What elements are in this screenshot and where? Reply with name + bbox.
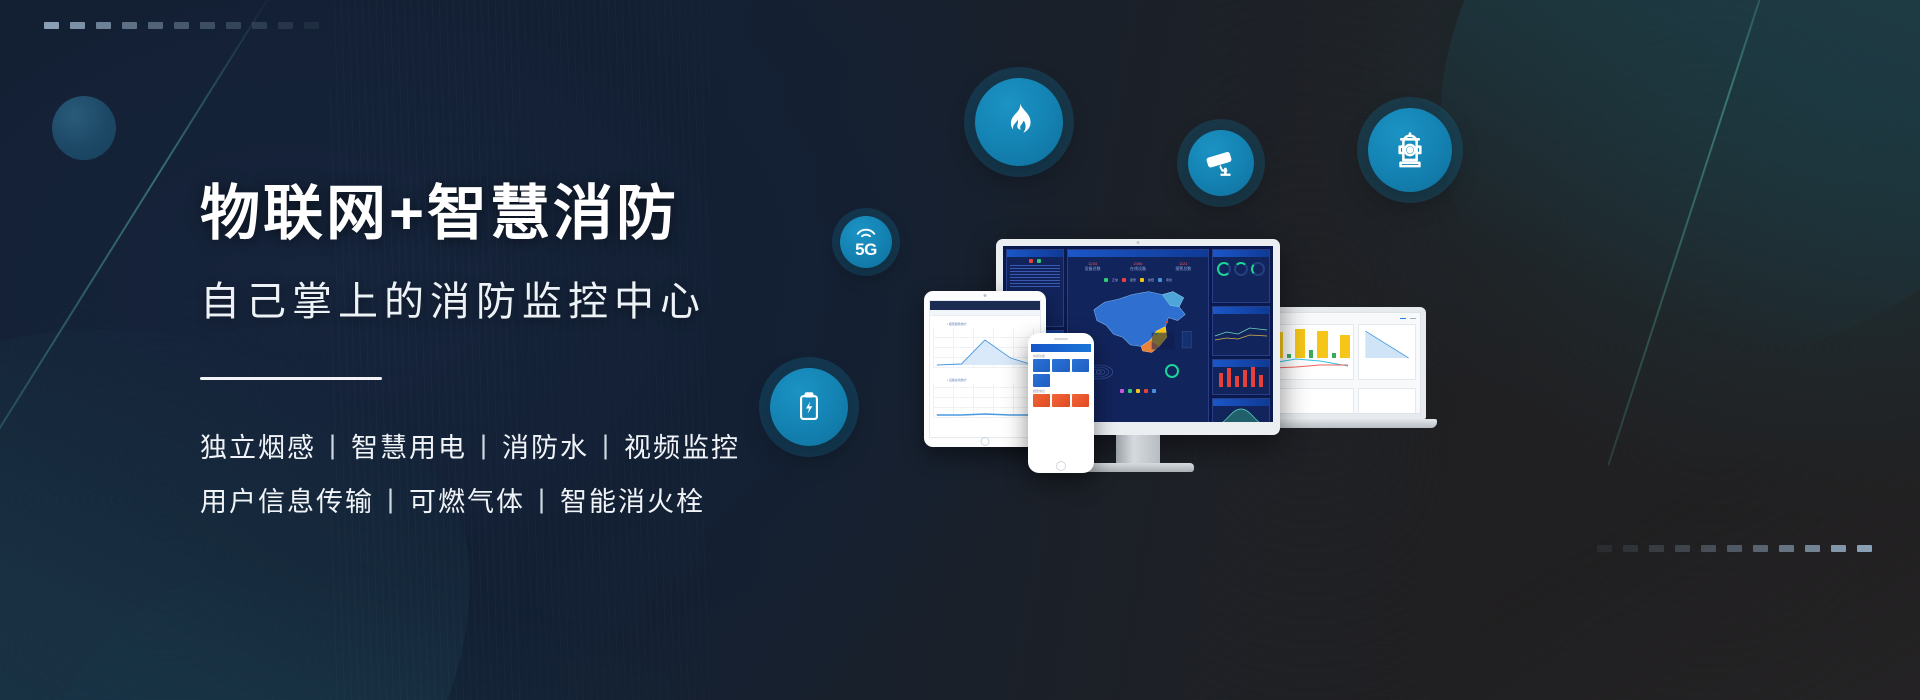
- tab-inactive[interactable]: ▬▬: [1410, 316, 1416, 320]
- tablet-header-bar: [930, 301, 1040, 310]
- feature-line-2: 用户信息传输 | 可燃气体 | 智能消火栓: [200, 480, 920, 519]
- area-chart: [1362, 328, 1412, 362]
- kpi-item: 1121报警总数: [1175, 261, 1191, 272]
- panel-title-bar: [1213, 399, 1269, 406]
- dash-mark: [1649, 545, 1664, 552]
- phone-header-bar: [1031, 344, 1091, 352]
- decor-blob-bottom-right: [1460, 440, 1920, 700]
- feature-separator: |: [538, 484, 547, 515]
- phone-speaker: [1054, 338, 1068, 340]
- tablet-chart-2: [933, 384, 1037, 418]
- phone-alert-tile[interactable]: [1033, 394, 1050, 407]
- phone-screen: 常用功能 报警信息: [1031, 344, 1091, 460]
- dash-mark: [44, 22, 59, 29]
- tablet-panel-1: ▪ 报警趋势统计: [930, 316, 1040, 372]
- bar-chart-panel: [1212, 359, 1270, 395]
- panel-title-bar: [1213, 307, 1269, 314]
- feature-item: 用户信息传输: [200, 480, 374, 519]
- feature-item: 消防水: [502, 426, 589, 465]
- kpi-item: 1234设备总数: [1085, 261, 1101, 272]
- tablet-chart-1: [933, 328, 1037, 368]
- tablet-panel-2: ▪ 设备在线统计: [930, 372, 1040, 422]
- distribution-panel: [1212, 398, 1270, 422]
- phone-tile-grid: [1031, 359, 1091, 387]
- feature-item: 视频监控: [624, 426, 740, 465]
- panel-title-bar: [1213, 360, 1269, 367]
- laptop-side-chart: [1358, 388, 1416, 414]
- dash-mark: [1623, 545, 1638, 552]
- kpi-row: 1234设备总数 2456在线设备 1121报警总数: [1068, 257, 1208, 276]
- dash-mark: [1701, 545, 1716, 552]
- phone-tile[interactable]: [1033, 359, 1050, 372]
- monitor-neck: [1116, 435, 1160, 465]
- flat-line-chart: [933, 384, 1037, 418]
- phone-tile[interactable]: [1033, 374, 1050, 387]
- device-cluster: ▬▬ ▬▬: [900, 225, 1440, 475]
- dash-mark: [1857, 545, 1872, 552]
- dash-mark: [122, 22, 137, 29]
- dash-mark: [1675, 545, 1690, 552]
- panel-title-bar: [1068, 250, 1208, 257]
- tablet-chart-caption: ▪ 设备在线统计: [947, 378, 1037, 382]
- dash-mark: [148, 22, 163, 29]
- page-subtitle: 自己掌上的消防监控中心: [200, 269, 920, 327]
- dash-mark: [1753, 545, 1768, 552]
- dash-mark: [174, 22, 189, 29]
- laptop-area-chart: [1358, 324, 1416, 380]
- bell-curve: [1213, 406, 1269, 422]
- decor-dashes-bottom-right: [1597, 545, 1872, 552]
- tab-active[interactable]: ▬▬: [1400, 316, 1406, 320]
- phone-section-label: 报警信息: [1031, 387, 1091, 394]
- dash-mark: [1805, 545, 1820, 552]
- panel-legend: [1007, 259, 1063, 263]
- feature-separator: |: [329, 430, 338, 461]
- tablet-home-button[interactable]: [981, 437, 990, 446]
- kpi-item: 2456在线设备: [1130, 261, 1146, 272]
- gauges-panel: [1212, 249, 1270, 303]
- feature-separator: |: [480, 430, 489, 461]
- gauge-chart-right: [1140, 356, 1206, 385]
- phone-device: 常用功能 报警信息: [1028, 333, 1094, 473]
- tablet-chart-caption: ▪ 报警趋势统计: [947, 322, 1037, 326]
- page-title: 物联网+智慧消防: [200, 181, 920, 247]
- 5g-icon: 5G: [840, 216, 892, 268]
- map-legend: 正常 报警 故障 离线: [1068, 278, 1208, 282]
- bar-series: [1213, 367, 1269, 387]
- feature-separator: |: [602, 430, 611, 461]
- feature-item: 独立烟感: [200, 426, 316, 465]
- panel-title-bar: [1007, 250, 1063, 257]
- phone-alert-tile[interactable]: [1052, 394, 1069, 407]
- phone-alert-tile[interactable]: [1072, 394, 1089, 407]
- monitor-base: [1082, 463, 1194, 472]
- dash-mark: [1597, 545, 1612, 552]
- decor-diagonal-line-2: [1607, 0, 1794, 466]
- dash-mark: [1779, 545, 1794, 552]
- dash-mark: [96, 22, 111, 29]
- phone-tile[interactable]: [1052, 359, 1069, 372]
- camera-icon: [1188, 130, 1254, 196]
- phone-alert-grid: [1031, 394, 1091, 407]
- dashboard-right-column: [1212, 249, 1270, 422]
- tablet-screen: ▪ 报警趋势统计 ▪ 设备在线统计: [929, 300, 1041, 438]
- phone-home-button[interactable]: [1056, 461, 1066, 471]
- panel-title-bar: [1213, 250, 1269, 257]
- battery-icon: [770, 368, 848, 446]
- area-chart: [933, 328, 1037, 368]
- gauge: [1234, 262, 1248, 276]
- dash-mark: [70, 22, 85, 29]
- gauge-row: [1213, 257, 1269, 281]
- phone-section-label: 常用功能: [1031, 352, 1091, 359]
- trend-lines: [1213, 314, 1269, 344]
- line-trend-panel: [1212, 306, 1270, 356]
- flame-icon: [975, 78, 1063, 166]
- divider-rule: [200, 377, 382, 380]
- decor-texture-wave-2: [1560, 0, 1860, 700]
- feature-separator: |: [387, 484, 396, 515]
- gauge: [1251, 262, 1265, 276]
- decor-circle: [52, 96, 116, 160]
- phone-tile[interactable]: [1072, 359, 1089, 372]
- feature-item: 智能消火栓: [560, 480, 705, 519]
- gauge: [1217, 262, 1231, 276]
- dash-mark: [1727, 545, 1742, 552]
- dash-mark: [1831, 545, 1846, 552]
- hero-copy: 物联网+智慧消防 自己掌上的消防监控中心 独立烟感 | 智慧用电 | 消防水 |…: [200, 0, 920, 700]
- monitor-camera-icon: [1137, 241, 1140, 244]
- hydrant-icon: [1368, 108, 1452, 192]
- feature-item: 可燃气体: [409, 480, 525, 519]
- feature-item: 智慧用电: [351, 426, 467, 465]
- hero-banner: 物联网+智慧消防 自己掌上的消防监控中心 独立烟感 | 智慧用电 | 消防水 |…: [0, 0, 1920, 700]
- decor-blob-top-right: [1440, 0, 1920, 360]
- 5g-label: 5G: [855, 241, 877, 258]
- tablet-camera-icon: [984, 294, 987, 297]
